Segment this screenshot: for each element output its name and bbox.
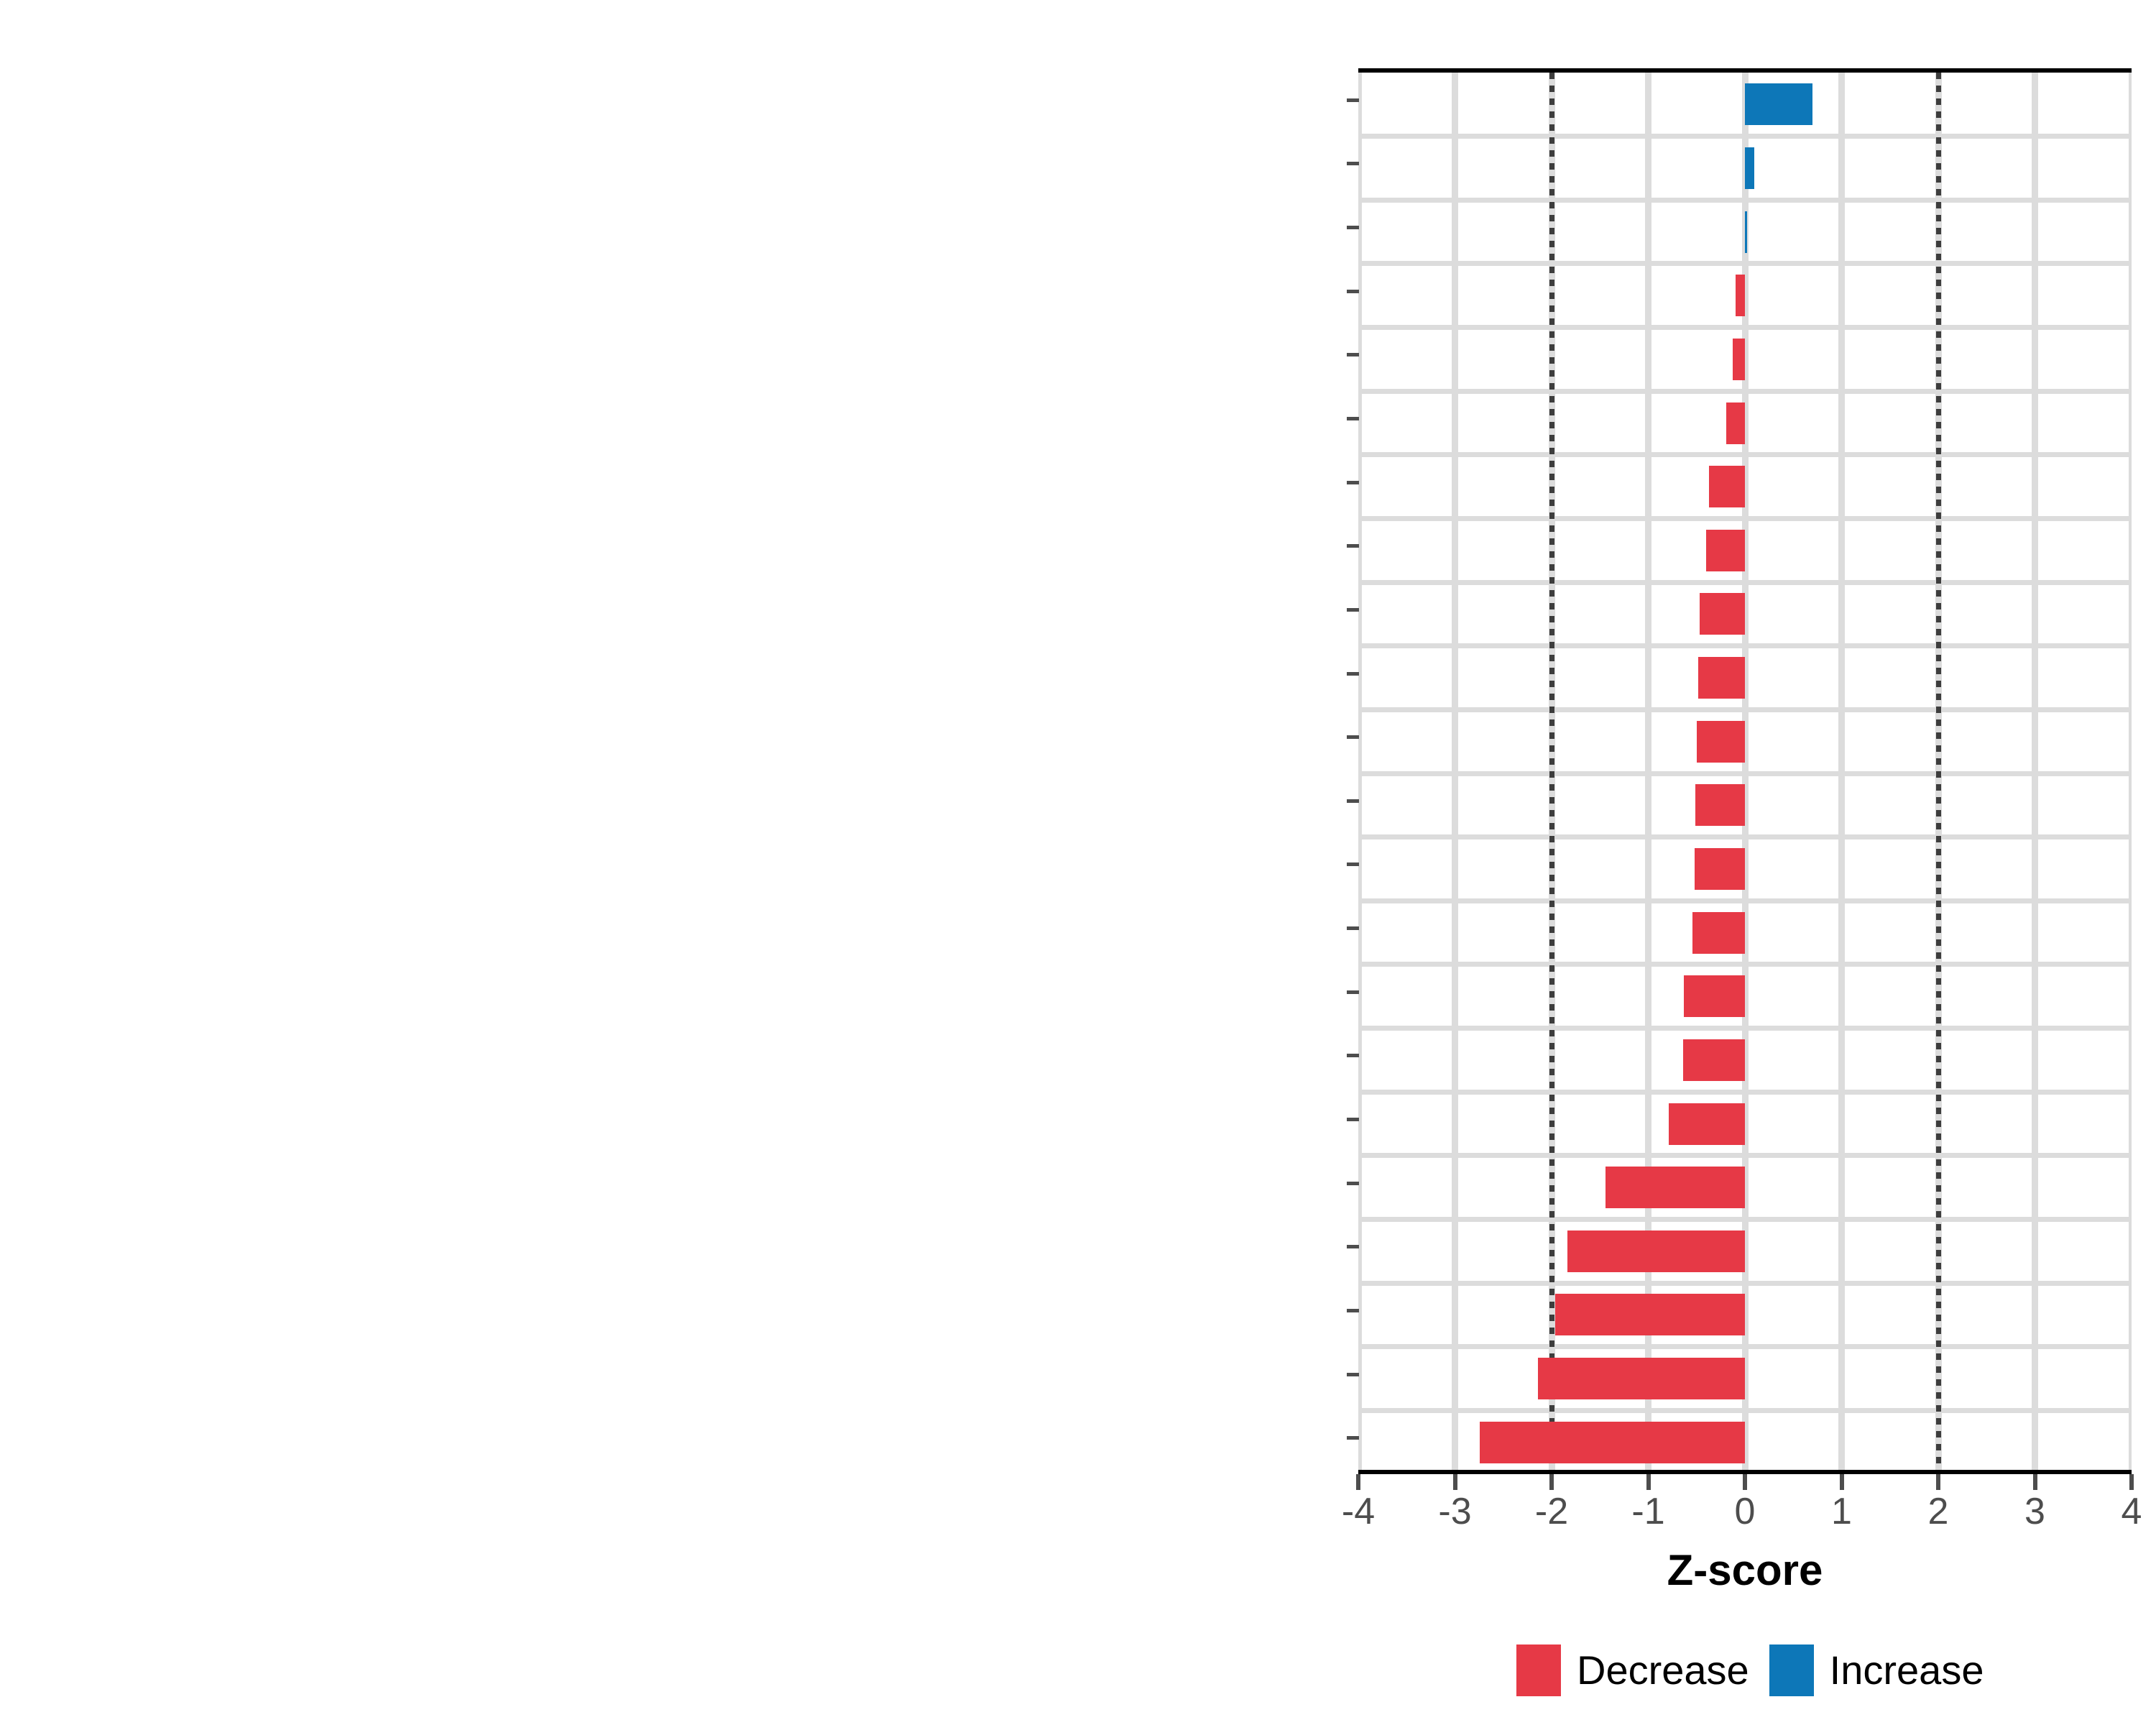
y-axis-tick xyxy=(1347,226,1359,229)
bar[interactable] xyxy=(1692,912,1745,954)
bar[interactable] xyxy=(1733,339,1745,380)
horizontal-gridline xyxy=(1358,452,2132,457)
x-axis-tick-label: 0 xyxy=(1702,1490,1788,1533)
y-axis-tick xyxy=(1347,1309,1359,1312)
y-axis-tick xyxy=(1347,98,1359,102)
bar[interactable] xyxy=(1709,466,1745,507)
plot-area xyxy=(1358,73,2132,1470)
x-axis-tick-label: -3 xyxy=(1412,1490,1498,1533)
x-axis-title: Z-score xyxy=(1358,1545,2132,1595)
y-axis-tick xyxy=(1347,990,1359,994)
y-axis-tick xyxy=(1347,353,1359,356)
horizontal-gridline xyxy=(1358,325,2132,330)
bar[interactable] xyxy=(1669,1103,1745,1145)
horizontal-gridline xyxy=(1358,898,2132,903)
x-axis-tick xyxy=(1549,1474,1554,1490)
y-axis-tick xyxy=(1347,799,1359,803)
y-axis-tick xyxy=(1347,862,1359,866)
y-axis-tick xyxy=(1347,1054,1359,1057)
plot-panel xyxy=(1358,68,2132,1470)
horizontal-gridline xyxy=(1358,580,2132,585)
horizontal-gridline xyxy=(1358,1408,2132,1413)
bar[interactable] xyxy=(1736,275,1745,316)
x-axis-tick-label: -1 xyxy=(1606,1490,1692,1533)
legend-label-increase: Increase xyxy=(1830,1648,1984,1693)
horizontal-gridline xyxy=(1358,1344,2132,1349)
y-axis-tick xyxy=(1347,1436,1359,1440)
bar[interactable] xyxy=(1700,593,1745,635)
bar[interactable] xyxy=(1606,1167,1745,1208)
legend-swatch-increase xyxy=(1769,1644,1814,1696)
legend: Decrease Increase xyxy=(1516,1644,1984,1696)
x-axis-tick-label: 1 xyxy=(1799,1490,1885,1533)
horizontal-gridline xyxy=(1358,198,2132,203)
x-axis-tick xyxy=(1936,1474,1940,1490)
x-axis-tick xyxy=(1840,1474,1844,1490)
y-axis-tick xyxy=(1347,735,1359,739)
y-axis-tick xyxy=(1347,1182,1359,1185)
bar[interactable] xyxy=(1684,975,1745,1017)
reference-line xyxy=(1936,73,1941,1470)
bar[interactable] xyxy=(1745,83,1812,125)
horizontal-gridline xyxy=(1358,962,2132,967)
y-axis-tick xyxy=(1347,672,1359,676)
y-axis-tick xyxy=(1347,162,1359,165)
y-axis-tick xyxy=(1347,1118,1359,1121)
x-axis-tick-label: -4 xyxy=(1315,1490,1401,1533)
horizontal-gridline xyxy=(1358,516,2132,521)
horizontal-gridline xyxy=(1358,1026,2132,1031)
y-axis-tick xyxy=(1347,1245,1359,1248)
y-axis-tick xyxy=(1347,608,1359,612)
horizontal-gridline xyxy=(1358,1153,2132,1158)
legend-label-decrease: Decrease xyxy=(1577,1648,1749,1693)
x-axis-tick xyxy=(1743,1474,1747,1490)
bar[interactable] xyxy=(1695,848,1745,890)
y-axis-tick xyxy=(1347,1373,1359,1376)
y-axis-tick xyxy=(1347,544,1359,548)
bar[interactable] xyxy=(1555,1294,1745,1335)
horizontal-gridline xyxy=(1358,1281,2132,1286)
x-axis-tick xyxy=(1453,1474,1457,1490)
x-axis-tick xyxy=(1646,1474,1651,1490)
y-axis-tick xyxy=(1347,926,1359,930)
horizontal-gridline xyxy=(1358,834,2132,839)
y-axis-tick xyxy=(1347,481,1359,484)
legend-swatch-decrease xyxy=(1516,1644,1561,1696)
x-axis-tick-label: -2 xyxy=(1508,1490,1595,1533)
cog-zscore-bar-chart: C : Energy production and conversionB : … xyxy=(0,0,2156,1725)
x-axis-tick-label: 4 xyxy=(2088,1490,2156,1533)
horizontal-gridline xyxy=(1358,771,2132,776)
x-axis-tick xyxy=(2033,1474,2037,1490)
bar[interactable] xyxy=(1726,402,1745,444)
horizontal-gridline xyxy=(1358,389,2132,394)
x-axis-tick xyxy=(2129,1474,2134,1490)
x-axis-tick xyxy=(1356,1474,1360,1490)
horizontal-gridline xyxy=(1358,261,2132,266)
bar[interactable] xyxy=(1567,1230,1745,1272)
horizontal-gridline xyxy=(1358,1090,2132,1095)
horizontal-gridline xyxy=(1358,643,2132,648)
bar[interactable] xyxy=(1745,211,1747,253)
horizontal-gridline xyxy=(1358,134,2132,139)
x-axis-tick-label: 2 xyxy=(1895,1490,1981,1533)
x-axis-tick-label: 3 xyxy=(1992,1490,2078,1533)
bar[interactable] xyxy=(1538,1358,1745,1399)
y-axis-tick xyxy=(1347,417,1359,420)
bar[interactable] xyxy=(1698,657,1745,699)
bar[interactable] xyxy=(1683,1039,1745,1081)
reference-line xyxy=(1549,73,1554,1470)
bar[interactable] xyxy=(1697,721,1745,763)
legend-item-increase[interactable]: Increase xyxy=(1769,1644,1984,1696)
y-axis-tick xyxy=(1347,290,1359,293)
horizontal-gridline xyxy=(1358,707,2132,712)
bar[interactable] xyxy=(1695,784,1745,826)
bar[interactable] xyxy=(1706,530,1745,571)
bar[interactable] xyxy=(1745,147,1754,189)
horizontal-gridline xyxy=(1358,1217,2132,1222)
bar[interactable] xyxy=(1480,1422,1745,1463)
legend-item-decrease[interactable]: Decrease xyxy=(1516,1644,1749,1696)
